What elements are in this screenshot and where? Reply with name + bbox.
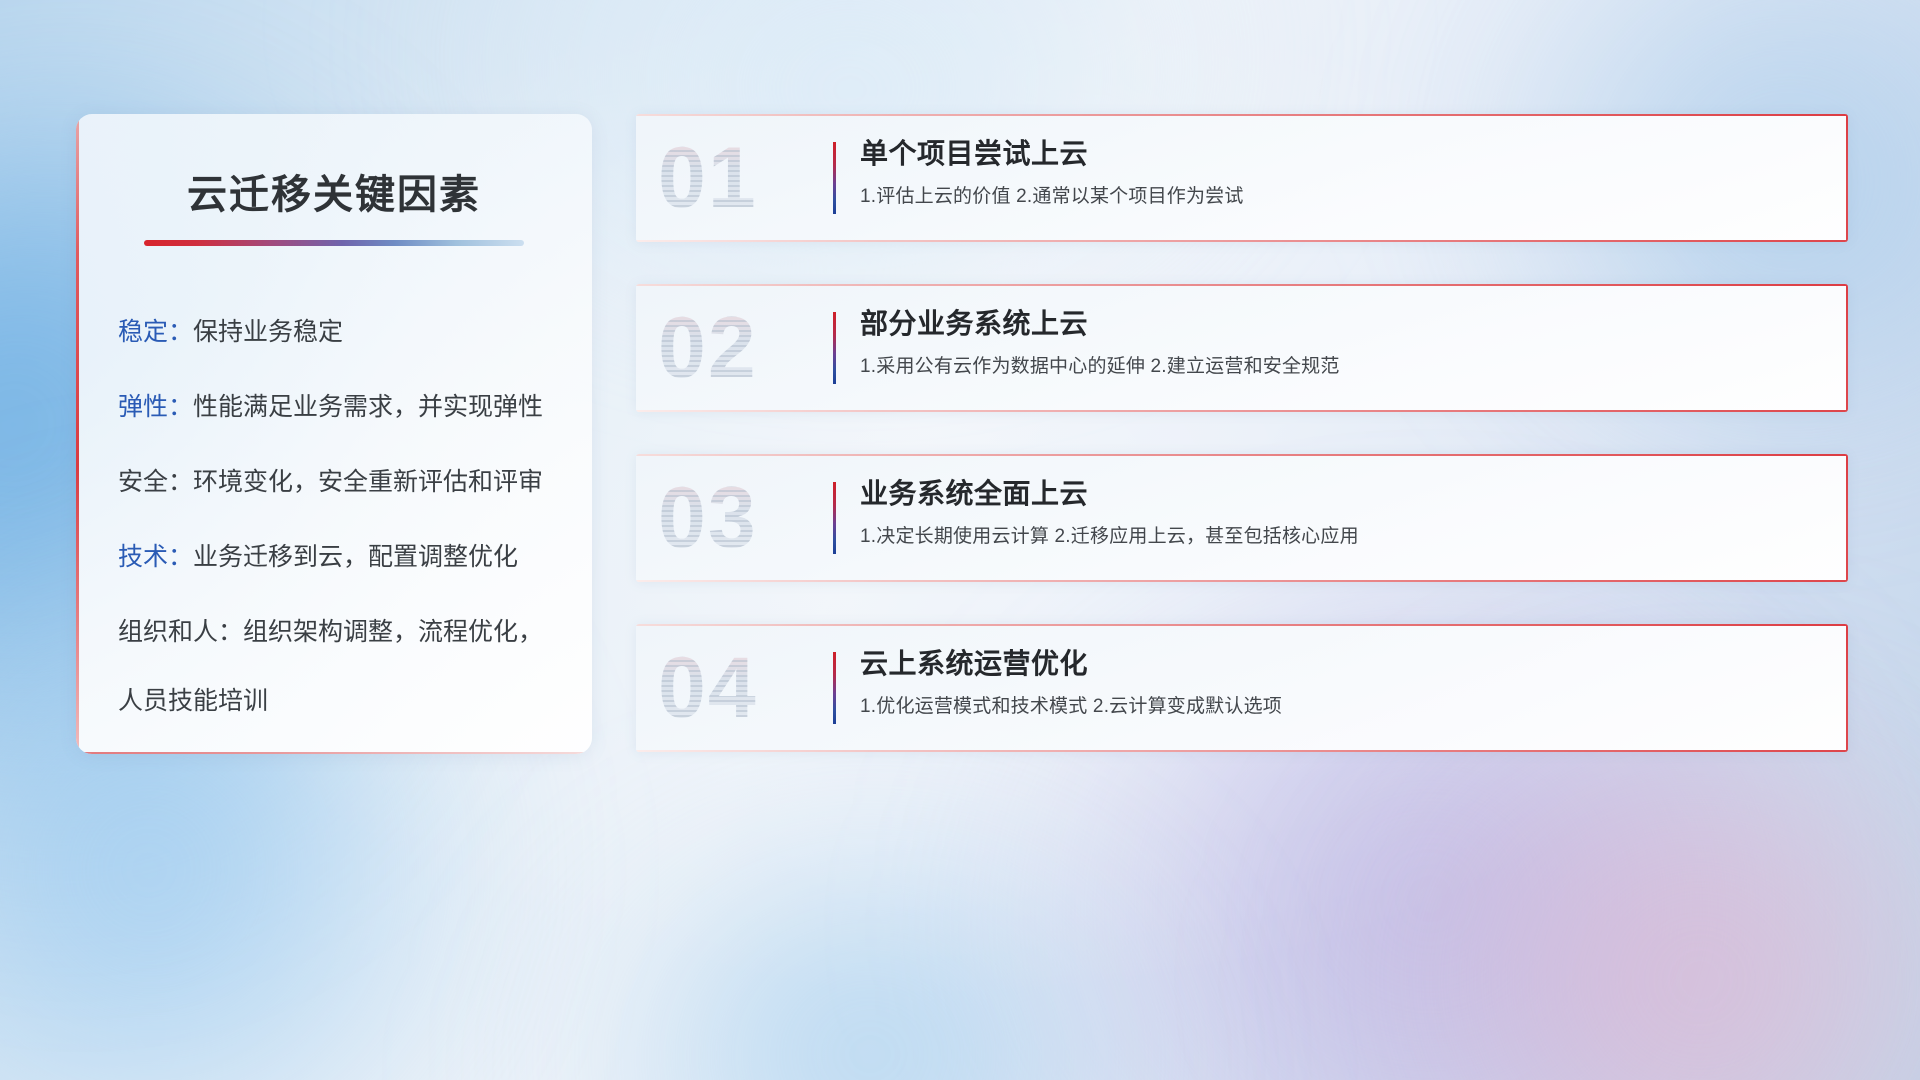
card-text-block: 云上系统运营优化 1.优化运营模式和技术模式 2.云计算变成默认选项 — [860, 648, 1824, 719]
key-factor-label: 组织和人： — [118, 618, 243, 646]
stage-card-01[interactable]: 01 单个项目尝试上云 1.评估上云的价值 2.通常以某个项目作为尝试 — [636, 114, 1848, 242]
key-factor-text: 组织架构调整，流程优化， — [243, 618, 543, 646]
key-factor-item: 安全：环境变化，安全重新评估和评审 — [118, 470, 592, 495]
panel-title: 云迁移关键因素 — [76, 162, 592, 220]
card-title: 业务系统全面上云 — [860, 478, 1824, 510]
key-factors-panel: 云迁移关键因素 稳定：保持业务稳定 弹性：性能满足业务需求，并实现弹性 安全：环… — [76, 114, 592, 754]
key-factor-item: 稳定：保持业务稳定 — [118, 320, 592, 345]
card-divider-bar — [833, 142, 836, 214]
title-underline-rule — [144, 240, 524, 246]
stage-card-03[interactable]: 03 业务系统全面上云 1.决定长期使用云计算 2.迁移应用上云，甚至包括核心应… — [636, 454, 1848, 582]
card-divider-bar — [833, 312, 836, 384]
stage-card-04[interactable]: 04 云上系统运营优化 1.优化运营模式和技术模式 2.云计算变成默认选项 — [636, 624, 1848, 752]
card-right-accent — [1846, 284, 1848, 412]
key-factor-item-continuation: 人员技能培训 — [118, 689, 592, 714]
card-text-block: 单个项目尝试上云 1.评估上云的价值 2.通常以某个项目作为尝试 — [860, 138, 1824, 209]
slide-canvas: 云迁移关键因素 稳定：保持业务稳定 弹性：性能满足业务需求，并实现弹性 安全：环… — [0, 0, 1920, 1080]
card-text-block: 部分业务系统上云 1.采用公有云作为数据中心的延伸 2.建立运营和安全规范 — [860, 308, 1824, 379]
stage-number-03: 03 — [658, 475, 758, 561]
key-factor-label: 技术： — [118, 543, 193, 571]
key-factor-text: 性能满足业务需求，并实现弹性 — [193, 393, 543, 421]
key-factors-list: 稳定：保持业务稳定 弹性：性能满足业务需求，并实现弹性 安全：环境变化，安全重新… — [76, 320, 592, 714]
migration-stage-cards: 01 单个项目尝试上云 1.评估上云的价值 2.通常以某个项目作为尝试 02 部… — [636, 114, 1848, 752]
card-title: 部分业务系统上云 — [860, 308, 1824, 340]
card-right-accent — [1846, 624, 1848, 752]
card-subtitle: 1.评估上云的价值 2.通常以某个项目作为尝试 — [860, 186, 1824, 209]
card-subtitle: 1.采用公有云作为数据中心的延伸 2.建立运营和安全规范 — [860, 356, 1824, 379]
card-title: 云上系统运营优化 — [860, 648, 1824, 680]
card-title: 单个项目尝试上云 — [860, 138, 1824, 170]
key-factor-label: 弹性： — [118, 393, 193, 421]
stage-number-01: 01 — [658, 135, 758, 221]
key-factor-text: 人员技能培训 — [118, 687, 268, 715]
stage-number-04: 04 — [658, 645, 758, 731]
key-factor-label: 安全： — [118, 468, 193, 496]
key-factor-text: 环境变化，安全重新评估和评审 — [193, 468, 543, 496]
card-divider-bar — [833, 652, 836, 724]
key-factor-item: 弹性：性能满足业务需求，并实现弹性 — [118, 395, 592, 420]
card-text-block: 业务系统全面上云 1.决定长期使用云计算 2.迁移应用上云，甚至包括核心应用 — [860, 478, 1824, 549]
key-factor-text: 保持业务稳定 — [193, 318, 343, 346]
stage-number-02: 02 — [658, 305, 758, 391]
card-right-accent — [1846, 114, 1848, 242]
card-subtitle: 1.优化运营模式和技术模式 2.云计算变成默认选项 — [860, 696, 1824, 719]
card-divider-bar — [833, 482, 836, 554]
key-factor-label: 稳定： — [118, 318, 193, 346]
stage-card-02[interactable]: 02 部分业务系统上云 1.采用公有云作为数据中心的延伸 2.建立运营和安全规范 — [636, 284, 1848, 412]
card-subtitle: 1.决定长期使用云计算 2.迁移应用上云，甚至包括核心应用 — [860, 526, 1824, 549]
card-right-accent — [1846, 454, 1848, 582]
key-factor-text: 业务迁移到云，配置调整优化 — [193, 543, 518, 571]
key-factor-item: 组织和人：组织架构调整，流程优化， — [118, 620, 592, 645]
key-factor-item: 技术：业务迁移到云，配置调整优化 — [118, 545, 592, 570]
